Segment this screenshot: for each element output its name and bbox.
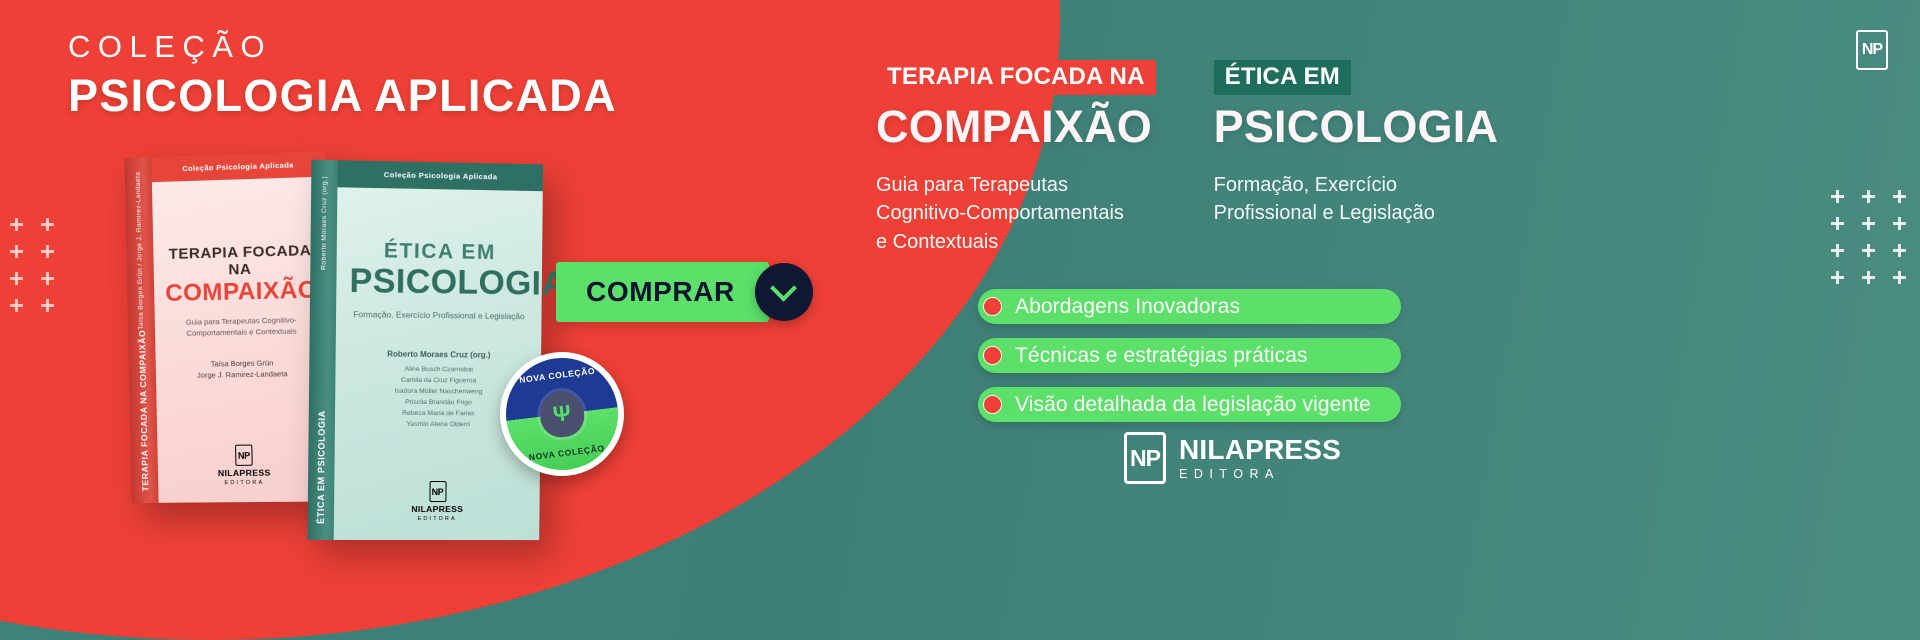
corner-np-logo-icon: NP xyxy=(1856,30,1888,70)
feature-pill: Visão detalhada da legislação vigente xyxy=(978,387,1401,422)
plus-icon xyxy=(1831,190,1844,203)
plus-icon xyxy=(41,245,54,258)
book2-publisher-sub: EDITORA xyxy=(418,516,457,522)
feature-pill-label: Visão detalhada da legislação vigente xyxy=(1015,393,1371,417)
title-compaixao: COMPAIXÃO xyxy=(876,104,1156,149)
plus-icon xyxy=(1893,244,1906,257)
book1-publisher-name: NILAPRESS xyxy=(218,468,271,479)
book1-publisher-sub: EDITORA xyxy=(224,480,264,486)
brand-names: NILAPRESS EDITORA xyxy=(1179,435,1341,481)
book1-authors: Taísa Borges Grün Jorge J. Ramirez-Landa… xyxy=(167,357,319,382)
plus-icon xyxy=(1831,271,1844,284)
np-logo-icon: NP xyxy=(429,481,446,502)
book2-title-line1: ÉTICA EM xyxy=(350,239,530,265)
np-logo-icon: NP xyxy=(1124,432,1166,484)
column-compaixao: TERAPIA FOCADA NA COMPAIXÃO Guia para Te… xyxy=(876,60,1156,256)
plus-icon xyxy=(1893,190,1906,203)
bullet-dot-icon xyxy=(983,395,1002,414)
book1-subtitle: Guia para Terapeutas Cognitivo-Comportam… xyxy=(166,314,318,339)
title-columns: TERAPIA FOCADA NA COMPAIXÃO Guia para Te… xyxy=(876,60,1516,256)
feature-pill-list: Abordagens Inovadoras Técnicas e estraté… xyxy=(978,289,1401,422)
plus-icon xyxy=(41,218,54,231)
feature-pill: Técnicas e estratégias práticas xyxy=(978,338,1401,373)
badge-etica: ÉTICA EM xyxy=(1214,60,1351,95)
plus-icon xyxy=(10,299,23,312)
book1-spine-title: TERAPIA FOCADA NA COMPAIXÃO xyxy=(136,330,149,492)
psi-symbol: Ψ xyxy=(552,402,572,426)
plus-decoration-right xyxy=(1831,190,1906,284)
plus-icon xyxy=(1893,271,1906,284)
brand-name: NILAPRESS xyxy=(1179,435,1341,464)
book1-spine-authors: Taísa Borges Grün / Jorge J. Ramirez-Lan… xyxy=(135,172,145,330)
comprar-cta[interactable]: COMPRAR xyxy=(556,262,813,322)
feature-pill-label: Técnicas e estratégias práticas xyxy=(1015,344,1308,368)
plus-decoration-left xyxy=(10,218,54,312)
book2-organizer: Roberto Moraes Cruz (org.) xyxy=(349,349,529,360)
book-covers-group: Taísa Borges Grün / Jorge J. Ramirez-Lan… xyxy=(110,140,580,540)
book-cover-etica[interactable]: Roberto Moraes Cruz (org.) ÉTICA EM PSIC… xyxy=(307,160,543,540)
subtitle-psicologia: Formação, Exercício Profissional e Legis… xyxy=(1214,171,1499,228)
plus-icon xyxy=(1862,190,1875,203)
np-logo-icon: NP xyxy=(235,445,253,466)
plus-icon xyxy=(1831,217,1844,230)
plus-icon xyxy=(41,299,54,312)
chevron-down-icon[interactable] xyxy=(755,263,813,321)
book2-title-line2: PSICOLOGIA xyxy=(349,264,529,301)
book2-spine-author: Roberto Moraes Cruz (org.) xyxy=(320,176,328,270)
chevron-glyph xyxy=(770,274,797,301)
plus-icon xyxy=(41,272,54,285)
book2-face: Coleção Psicologia Aplicada ÉTICA EM PSI… xyxy=(334,160,543,540)
comprar-button[interactable]: COMPRAR xyxy=(556,262,769,322)
book2-subtitle: Formação, Exercício Profissional e Legis… xyxy=(349,309,529,323)
plus-icon xyxy=(1831,244,1844,257)
book-cover-compaixao[interactable]: Taísa Borges Grün / Jorge J. Ramirez-Lan… xyxy=(124,151,332,503)
seal-inner: NOVA COLEÇÃO Ψ NOVA COLEÇÃO xyxy=(500,352,625,477)
bullet-dot-icon xyxy=(983,297,1002,316)
badge-terapia: TERAPIA FOCADA NA xyxy=(876,60,1156,95)
right-content: TERAPIA FOCADA NA COMPAIXÃO Guia para Te… xyxy=(876,60,1516,256)
book2-publisher-logo: NP NILAPRESS EDITORA xyxy=(334,481,540,540)
plus-icon xyxy=(1862,217,1875,230)
promo-banner: COLEÇÃO PSICOLOGIA APLICADA Taísa Borges… xyxy=(0,0,1920,640)
book2-publisher-name: NILAPRESS xyxy=(411,504,463,514)
collection-headline: COLEÇÃO PSICOLOGIA APLICADA xyxy=(68,30,617,122)
plus-icon xyxy=(1862,271,1875,284)
book2-collection-band: Coleção Psicologia Aplicada xyxy=(337,160,543,191)
headline-main: PSICOLOGIA APLICADA xyxy=(68,70,617,122)
plus-icon xyxy=(10,218,23,231)
book1-title-line1: TERAPIA FOCADA NA xyxy=(164,241,316,280)
book2-spine: Roberto Moraes Cruz (org.) ÉTICA EM PSIC… xyxy=(307,160,337,540)
column-etica: ÉTICA EM PSICOLOGIA Formação, Exercício … xyxy=(1214,60,1499,256)
bullet-dot-icon xyxy=(983,346,1002,365)
book1-face: Coleção Psicologia Aplicada TERAPIA FOCA… xyxy=(151,151,332,503)
book1-title-line2: COMPAIXÃO xyxy=(165,278,317,306)
plus-icon xyxy=(10,245,23,258)
plus-icon xyxy=(1862,244,1875,257)
brand-sub: EDITORA xyxy=(1179,467,1341,481)
feature-pill-label: Abordagens Inovadoras xyxy=(1015,295,1240,319)
nilapress-brand-logo: NP NILAPRESS EDITORA xyxy=(1124,432,1341,484)
head-psi-icon: Ψ xyxy=(537,388,586,439)
headline-kicker: COLEÇÃO xyxy=(68,30,617,64)
plus-icon xyxy=(1893,217,1906,230)
book1-body: TERAPIA FOCADA NA COMPAIXÃO Guia para Te… xyxy=(152,177,331,446)
book2-spine-title: ÉTICA EM PSICOLOGIA xyxy=(316,410,327,524)
title-psicologia: PSICOLOGIA xyxy=(1214,104,1499,149)
subtitle-compaixao: Guia para Terapeutas Cognitivo-Comportam… xyxy=(876,171,1156,256)
feature-pill: Abordagens Inovadoras xyxy=(978,289,1401,324)
book1-publisher-logo: NP NILAPRESS EDITORA xyxy=(157,444,332,503)
plus-icon xyxy=(10,272,23,285)
